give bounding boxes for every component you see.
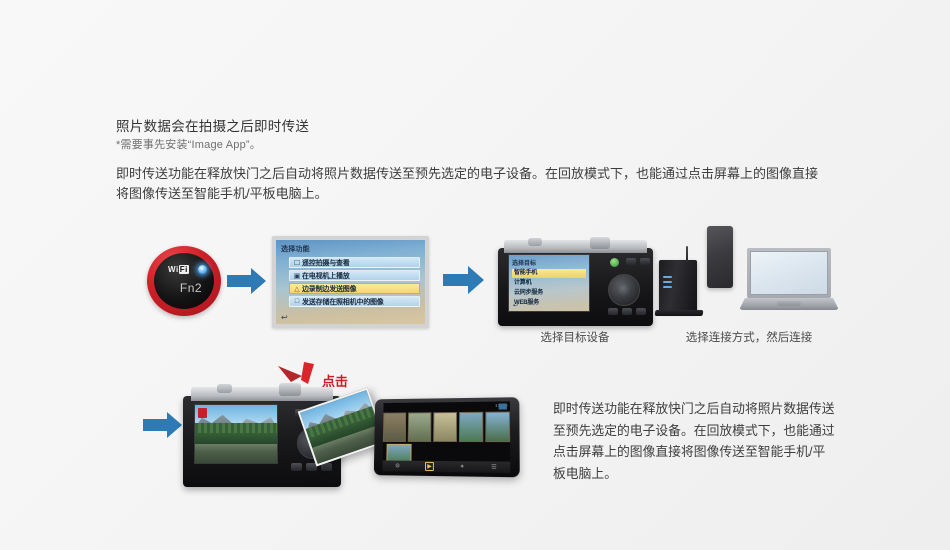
gallery-thumbnail[interactable]: [408, 412, 432, 442]
wifi-icon: WiFi: [168, 265, 189, 274]
camera-top-plate: [504, 240, 647, 253]
share-icon[interactable]: ⚙: [395, 463, 400, 470]
green-indicator-icon: [610, 258, 619, 267]
flow-arrow-3: [143, 410, 183, 440]
right-arrow-icon: [143, 410, 183, 440]
home-icon[interactable]: [499, 403, 507, 409]
lead-paragraph: 即时传送功能在释放快门之后自动将照片数据传送至预先选定的电子设备。在回放模式下，…: [116, 164, 822, 204]
function-button-1[interactable]: [626, 258, 636, 265]
menu-item-label: 遥控拍摄与查看: [302, 258, 350, 268]
device-list-title: 选择目标: [512, 258, 586, 267]
wireless-router-icon: [659, 260, 697, 312]
gallery-thumbnail[interactable]: [383, 413, 406, 442]
gallery-thumbnail[interactable]: [459, 412, 483, 442]
slide-canvas: 照片数据会在拍摄之后即时传送 *需要事先安装“Image App”。 即时传送功…: [0, 0, 950, 550]
mode-dial[interactable]: [279, 383, 301, 396]
menu-item-label: 边录制边发送图像: [302, 284, 356, 294]
tablet-device[interactable]: 13:45 ⚙ ▶ ✦ ☰: [374, 397, 520, 477]
flow-arrow-2: [443, 264, 485, 296]
device-item-cloud-sync[interactable]: 云同步服务: [512, 289, 586, 298]
tablet-screen[interactable]: 13:45 ⚙ ▶ ✦ ☰: [382, 401, 510, 473]
display-button[interactable]: [622, 308, 632, 315]
device-item-smartphone[interactable]: 智能手机: [512, 269, 586, 278]
menu-item-label: 发送存储在照相机中的图像: [302, 297, 384, 307]
wifi-fn2-button[interactable]: WiFi Fn2: [147, 246, 221, 316]
list-icon[interactable]: ☰: [491, 464, 497, 471]
device-item-computer[interactable]: 计算机: [512, 279, 586, 288]
install-note: *需要事先安装“Image App”。: [116, 136, 261, 152]
playback-mode-badge: [198, 408, 207, 418]
menu-item-remote-shoot[interactable]: ☐ 遥控拍摄与查看: [289, 257, 420, 268]
send-while-recording-icon: △: [292, 285, 302, 293]
menu-title: 选择功能: [281, 244, 420, 254]
gallery-thumbnail[interactable]: [433, 412, 457, 442]
play-icon[interactable]: ▶: [425, 462, 434, 471]
router-led-3: [663, 286, 672, 288]
tv-icon: ▣: [292, 272, 302, 280]
router-stand: [655, 310, 704, 316]
router-led-1: [663, 276, 672, 278]
laptop-trackpad-icon: [777, 301, 801, 306]
menu-item-send-while-recording[interactable]: △ 边录制边发送图像: [289, 283, 420, 294]
shutter-button[interactable]: [528, 238, 542, 246]
caption-select-connection: 选择连接方式，然后连接: [660, 329, 838, 345]
caption-select-target: 选择目标设备: [500, 329, 650, 345]
right-arrow-icon: [227, 266, 267, 296]
menu-lcd-inner: 选择功能 ☐ 遥控拍摄与查看 ▣ 在电视机上播放 △ 边录制边发送图像 □ 发送…: [276, 240, 425, 324]
connection-devices-group: [655, 238, 840, 328]
device-item-web-service[interactable]: WEB服务: [512, 299, 586, 308]
tablet-toolbar[interactable]: ⚙ ▶ ✦ ☰: [382, 460, 510, 473]
camera-device-select: 选择目标 智能手机 计算机 云同步服务 WEB服务 ↩: [498, 240, 653, 326]
flow-arrow-1: [227, 266, 267, 296]
camera-menu-screen[interactable]: 选择功能 ☐ 遥控拍摄与查看 ▣ 在电视机上播放 △ 边录制边发送图像 □ 发送…: [272, 236, 429, 328]
settings-icon[interactable]: ✦: [460, 463, 465, 470]
menu-item-tv-playback[interactable]: ▣ 在电视机上播放: [289, 270, 420, 281]
laptop-screen-icon: [747, 248, 831, 298]
back-arrow-icon[interactable]: ↩: [281, 313, 288, 322]
camera-top-plate: [191, 387, 333, 401]
smartphone-icon: [707, 226, 733, 288]
menu-item-label: 在电视机上播放: [302, 271, 350, 281]
right-arrow-icon: [443, 264, 485, 296]
back-arrow-icon[interactable]: ↩: [513, 302, 518, 309]
right-description-paragraph: 即时传送功能在释放快门之后自动将照片数据传送至预先选定的电子设备。在回放模式下，…: [553, 398, 835, 484]
menu-item-send-stored[interactable]: □ 发送存储在照相机中的图像: [289, 296, 420, 307]
photo-lake: [195, 444, 277, 463]
gallery-thumbnail[interactable]: [485, 412, 510, 443]
page-headline: 照片数据会在拍摄之后即时传送: [116, 115, 309, 135]
router-led-2: [663, 281, 672, 283]
camera-remote-icon: ☐: [292, 259, 302, 267]
button-core: WiFi Fn2: [154, 253, 214, 309]
thumbnail-strip[interactable]: [383, 412, 510, 443]
camera-lcd[interactable]: 选择目标 智能手机 计算机 云同步服务 WEB服务 ↩: [508, 254, 590, 312]
function-button-2[interactable]: [640, 258, 650, 265]
router-antenna-icon: [686, 246, 688, 264]
mode-dial[interactable]: [590, 237, 610, 249]
menu-button[interactable]: [608, 308, 618, 315]
camera-lcd-playback[interactable]: [194, 404, 278, 464]
fn2-label: Fn2: [154, 281, 228, 295]
menu-button[interactable]: [291, 463, 302, 471]
playback-button[interactable]: [636, 308, 646, 315]
shutter-button[interactable]: [217, 384, 232, 393]
directional-pad[interactable]: [608, 274, 640, 306]
photo-treeline: [195, 428, 277, 445]
status-led-icon: [198, 265, 207, 274]
send-stored-icon: □: [292, 298, 302, 305]
